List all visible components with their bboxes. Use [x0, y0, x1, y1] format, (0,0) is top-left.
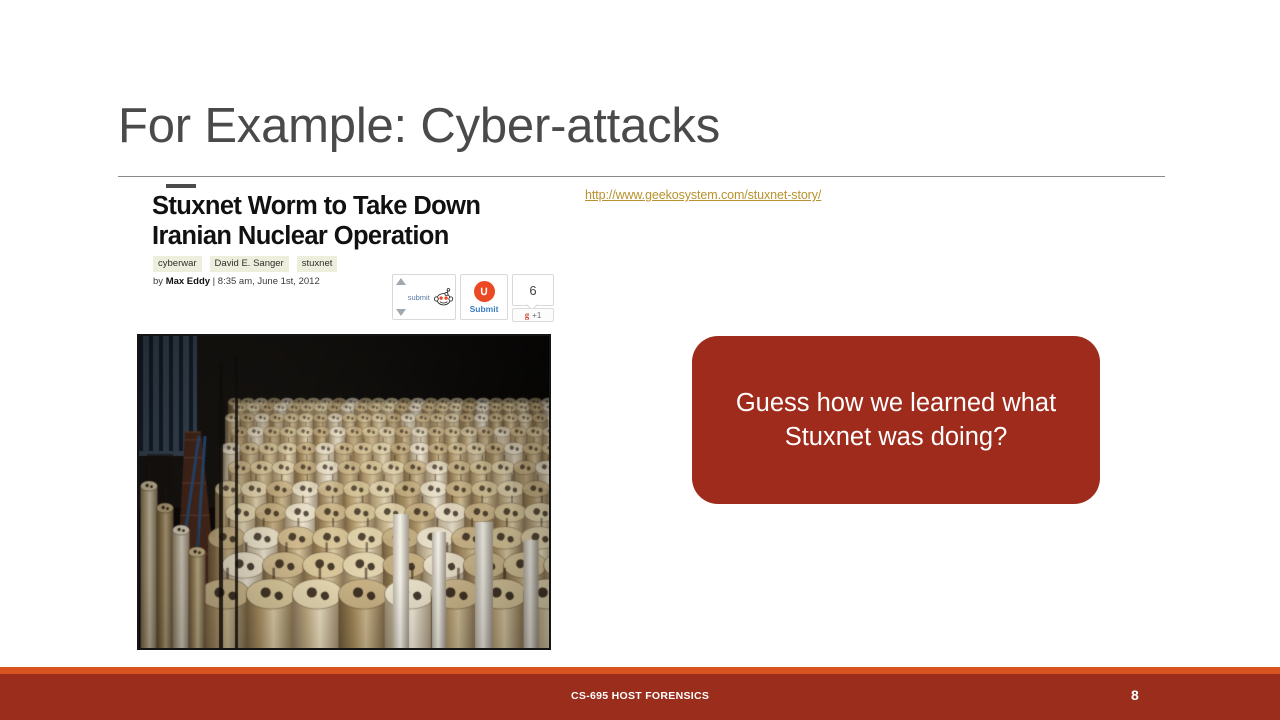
plusone-count-bubble: 6 [512, 274, 554, 306]
plusone-count: 6 [529, 283, 536, 298]
byline-author: Max Eddy [166, 276, 210, 287]
downvote-arrow-icon[interactable] [396, 309, 406, 316]
title-divider [118, 176, 1165, 177]
centrifuge-photo [137, 334, 551, 650]
byline-prefix: by [153, 276, 166, 287]
social-share-widget: submit ∪ Submit 6 g +1 [392, 274, 554, 320]
article-tag[interactable]: cyberwar [153, 256, 202, 272]
footer-course-label: CS-695 HOST FORENSICS [571, 690, 709, 702]
source-url-link[interactable]: http://www.geekosystem.com/stuxnet-story… [585, 188, 821, 202]
stumbleupon-label: Submit [470, 304, 499, 314]
reddit-alien-icon [432, 284, 455, 310]
plusone-button[interactable]: g +1 [512, 308, 554, 322]
plusone-label: +1 [532, 311, 541, 320]
article-clip-artifact [166, 184, 196, 188]
article-tag[interactable]: David E. Sanger [210, 256, 289, 272]
reddit-submit-button[interactable]: submit [392, 274, 456, 320]
centrifuge-photo-canvas [139, 336, 549, 648]
byline-meta: | 8:35 am, June 1st, 2012 [210, 276, 320, 287]
stumbleupon-submit-button[interactable]: ∪ Submit [460, 274, 508, 320]
footer-accent-stripe [0, 667, 1280, 674]
article-headline: Stuxnet Worm to Take Down Iranian Nuclea… [152, 191, 522, 251]
footer-page-number: 8 [1131, 687, 1139, 703]
callout-box: Guess how we learned what Stuxnet was do… [692, 336, 1100, 504]
article-tag[interactable]: stuxnet [297, 256, 338, 272]
stumbleupon-icon: ∪ [474, 281, 495, 302]
reddit-vote-arrows[interactable] [396, 278, 407, 316]
reddit-submit-label: submit [408, 293, 430, 302]
google-g-icon: g [525, 311, 530, 320]
article-byline: by Max Eddy | 8:35 am, June 1st, 2012 [153, 276, 320, 287]
callout-text: Guess how we learned what Stuxnet was do… [728, 386, 1064, 454]
google-plusone-widget: 6 g +1 [512, 274, 554, 306]
upvote-arrow-icon[interactable] [396, 278, 406, 285]
article-tag-list: cyberwar David E. Sanger stuxnet [153, 256, 337, 272]
page-title: For Example: Cyber-attacks [118, 98, 1168, 154]
